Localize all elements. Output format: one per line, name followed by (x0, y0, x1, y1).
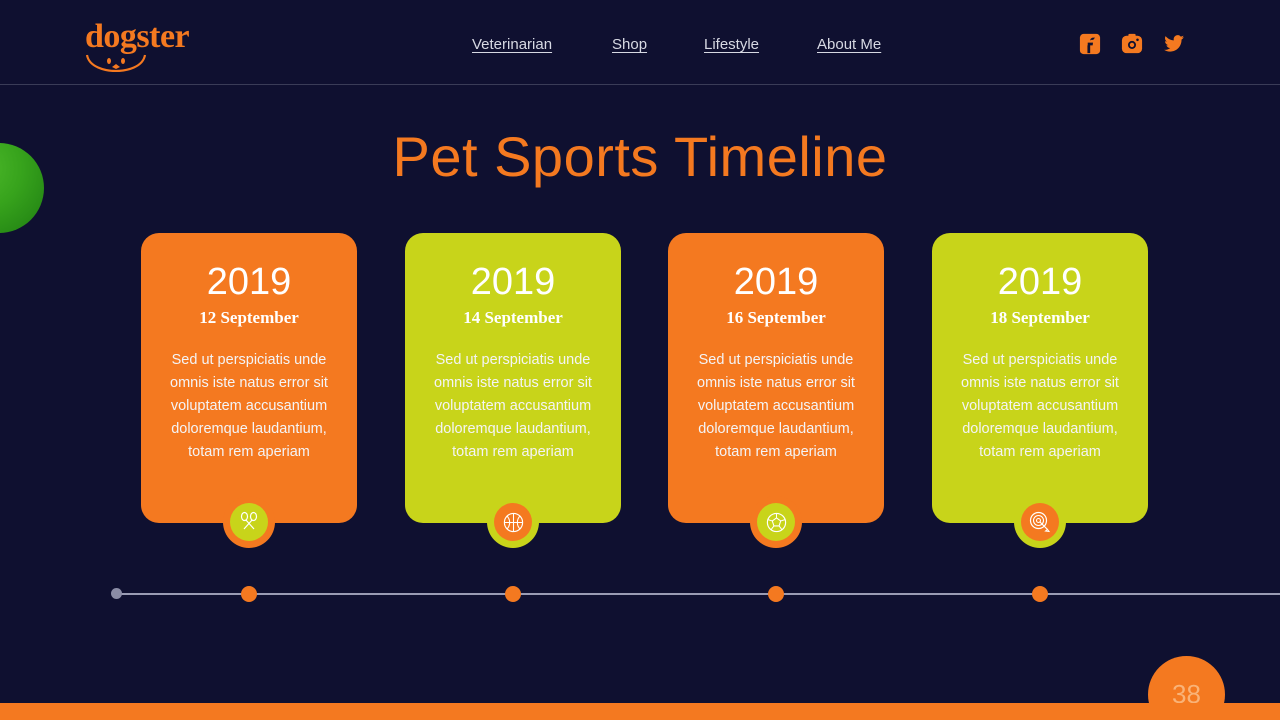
card-date: 14 September (405, 308, 621, 328)
card-body-text: Sed ut perspiciatis unde omnis iste natu… (950, 349, 1130, 464)
nav-item-shop[interactable]: Shop (612, 36, 647, 53)
card-icon-badge[interactable] (1014, 496, 1066, 548)
timeline-cards: 2019 12 September Sed ut perspiciatis un… (0, 233, 1280, 523)
card-body-text: Sed ut perspiciatis unde omnis iste natu… (159, 349, 339, 464)
main-nav: Veterinarian Shop Lifestyle About Me (450, 36, 910, 60)
social-links (1079, 33, 1185, 55)
instagram-icon[interactable] (1121, 33, 1143, 55)
card-body-text: Sed ut perspiciatis unde omnis iste natu… (686, 349, 866, 464)
timeline-card[interactable]: 2019 14 September Sed ut perspiciatis un… (405, 233, 621, 523)
facebook-icon[interactable] (1079, 33, 1101, 55)
timeline-card[interactable]: 2019 12 September Sed ut perspiciatis un… (141, 233, 357, 523)
card-date: 18 September (932, 308, 1148, 328)
twitter-icon[interactable] (1163, 33, 1185, 55)
card-date: 16 September (668, 308, 884, 328)
timeline-dot[interactable] (768, 586, 784, 602)
dog-face-flourish-icon (85, 54, 147, 72)
card-body-text: Sed ut perspiciatis unde omnis iste natu… (423, 349, 603, 464)
card-icon-badge[interactable] (223, 496, 275, 548)
crossed-paddles-icon (237, 510, 261, 534)
site-header: dogster Veterinarian Shop Lifestyle Abou… (0, 0, 1280, 85)
nav-item-about-me[interactable]: About Me (817, 36, 881, 53)
dartboard-icon (1028, 510, 1052, 534)
nav-item-veterinarian[interactable]: Veterinarian (472, 36, 552, 53)
badge-inner (230, 503, 268, 541)
timeline-dot[interactable] (241, 586, 257, 602)
bottom-bar (0, 703, 1280, 720)
nav-item-lifestyle[interactable]: Lifestyle (704, 36, 759, 53)
badge-inner (1021, 503, 1059, 541)
card-year: 2019 (668, 263, 884, 303)
timeline-axis (116, 593, 1280, 595)
card-year: 2019 (405, 263, 621, 303)
card-year: 2019 (932, 263, 1148, 303)
card-date: 12 September (141, 308, 357, 328)
timeline-dot[interactable] (505, 586, 521, 602)
timeline-dot[interactable] (1032, 586, 1048, 602)
logo-text[interactable]: dogster (85, 20, 189, 54)
slide: dogster Veterinarian Shop Lifestyle Abou… (0, 0, 1280, 720)
card-icon-badge[interactable] (750, 496, 802, 548)
badge-inner (494, 503, 532, 541)
timeline-card[interactable]: 2019 18 September Sed ut perspiciatis un… (932, 233, 1148, 523)
basketball-icon (502, 511, 525, 534)
timeline-card[interactable]: 2019 16 September Sed ut perspiciatis un… (668, 233, 884, 523)
timeline-start-dot (111, 588, 122, 599)
badge-inner (757, 503, 795, 541)
soccer-ball-icon (765, 511, 788, 534)
page-title: Pet Sports Timeline (0, 124, 1280, 189)
card-year: 2019 (141, 263, 357, 303)
card-icon-badge[interactable] (487, 496, 539, 548)
